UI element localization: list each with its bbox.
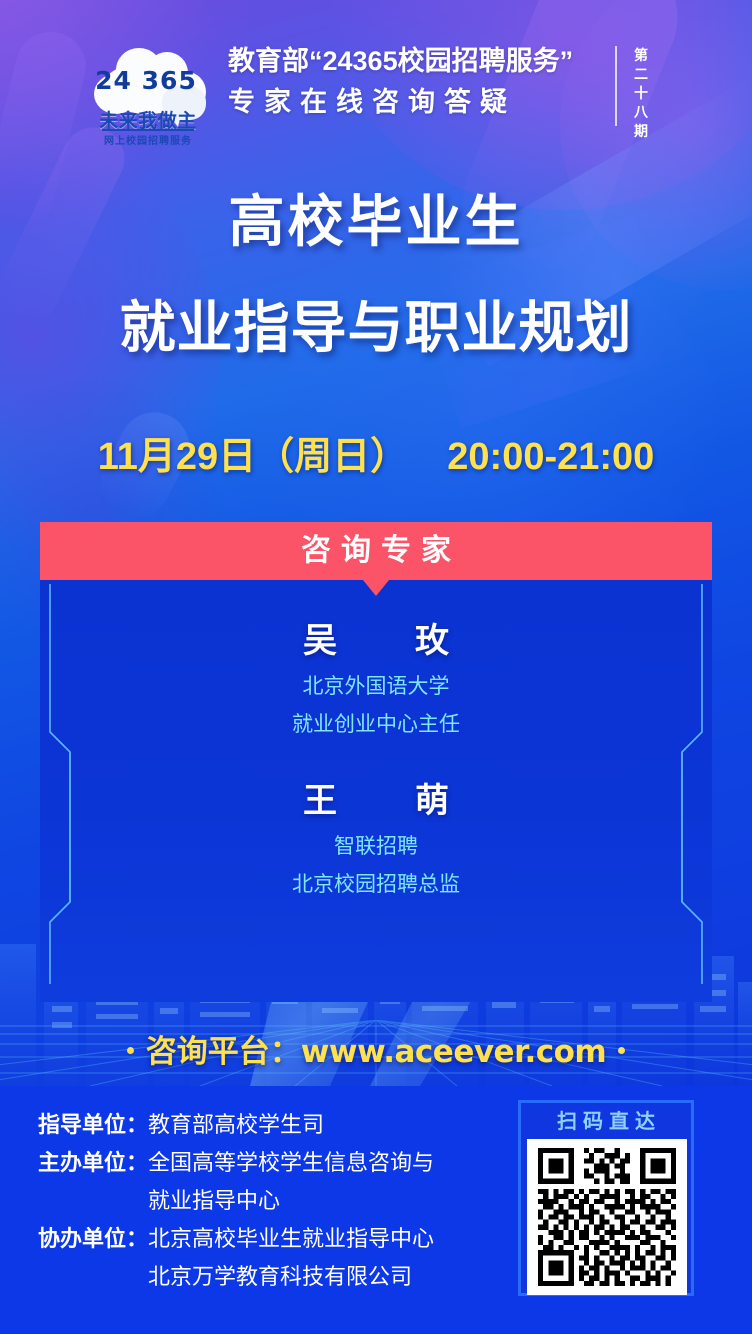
logo-24365: 24 365 未来我做主 网上校园招聘服务 [78, 40, 218, 150]
event-time: 20:00-21:00 [447, 436, 654, 478]
event-date: 11月29日（周日） [98, 436, 408, 478]
bullet-dot-icon [127, 1047, 134, 1054]
title-line-1: 高校毕业生 [0, 186, 752, 258]
expert-org-line-1: 智联招聘 [40, 832, 712, 862]
expert-name: 王 萌 [40, 778, 712, 824]
header-divider [615, 46, 617, 126]
expert-entry: 王 萌 智联招聘 北京校园招聘总监 [40, 778, 712, 900]
organization-value: 就业指导中心 [148, 1182, 508, 1220]
organization-label: 协办单位： [38, 1220, 148, 1258]
poster-root: 24 365 未来我做主 网上校园招聘服务 教育部“24365校园招聘服务” 专… [0, 0, 752, 1334]
issue-number: 第二十八期 [628, 46, 654, 141]
header: 24 365 未来我做主 网上校园招聘服务 教育部“24365校园招聘服务” 专… [0, 40, 752, 145]
organization-value: 全国高等学校学生信息咨询与 [148, 1144, 508, 1182]
header-line-1: 教育部“24365校园招聘服务” [228, 42, 610, 80]
organization-values: 全国高等学校学生信息咨询与 就业指导中心 [148, 1144, 508, 1220]
header-title-block: 教育部“24365校园招聘服务” 专家在线咨询答疑 [228, 42, 610, 124]
main-title: 高校毕业生 就业指导与职业规划 [0, 186, 752, 364]
organization-list: 指导单位： 教育部高校学生司 主办单位： 全国高等学校学生信息咨询与 就业指导中… [38, 1106, 508, 1296]
bullet-dot-icon [618, 1047, 625, 1054]
expert-org-line-1: 北京外国语大学 [40, 672, 712, 702]
organization-values: 北京高校毕业生就业指导中心 北京万学教育科技有限公司 [148, 1220, 508, 1296]
event-datetime: 11月29日（周日） 20:00-21:00 [0, 425, 752, 480]
title-line-2: 就业指导与职业规划 [0, 292, 752, 364]
logo-number: 24 365 [92, 66, 200, 95]
platform-url[interactable]: www.aceever.com [301, 1034, 606, 1070]
expert-name: 吴 玫 [40, 618, 712, 664]
organization-row: 协办单位： 北京高校毕业生就业指导中心 北京万学教育科技有限公司 [38, 1220, 508, 1296]
organization-value: 教育部高校学生司 [148, 1106, 508, 1144]
platform-label: 咨询平台： [146, 1034, 301, 1069]
organization-label: 主办单位： [38, 1144, 148, 1182]
expert-entry: 吴 玫 北京外国语大学 就业创业中心主任 [40, 618, 712, 740]
qr-code-image[interactable] [527, 1139, 687, 1295]
expert-org-line-2: 北京校园招聘总监 [40, 870, 712, 900]
logo-divider [102, 129, 194, 131]
organization-row: 主办单位： 全国高等学校学生信息咨询与 就业指导中心 [38, 1144, 508, 1220]
experts-list: 吴 玫 北京外国语大学 就业创业中心主任 王 萌 智联招聘 北京校园招聘总监 [40, 584, 712, 900]
footer: 指导单位： 教育部高校学生司 主办单位： 全国高等学校学生信息咨询与 就业指导中… [0, 1086, 752, 1334]
organization-value: 北京万学教育科技有限公司 [148, 1258, 508, 1296]
organization-row: 指导单位： 教育部高校学生司 [38, 1106, 508, 1144]
experts-panel: 咨询专家 吴 玫 北京外国语大学 就业创业中心主任 王 萌 智联招聘 北京校园招… [40, 522, 712, 1002]
expert-org-line-2: 就业创业中心主任 [40, 710, 712, 740]
qr-code-box[interactable]: 扫码直达 [518, 1100, 694, 1296]
platform-url-bar: 咨询平台：www.aceever.com [0, 1026, 752, 1071]
qr-code-label: 扫码直达 [527, 1107, 685, 1137]
organization-values: 教育部高校学生司 [148, 1106, 508, 1144]
organization-value: 北京高校毕业生就业指导中心 [148, 1220, 508, 1258]
logo-subtitle: 网上校园招聘服务 [78, 132, 218, 147]
header-line-2: 专家在线咨询答疑 [228, 80, 610, 124]
experts-ribbon-label: 咨询专家 [40, 522, 712, 580]
organization-label: 指导单位： [38, 1106, 148, 1144]
